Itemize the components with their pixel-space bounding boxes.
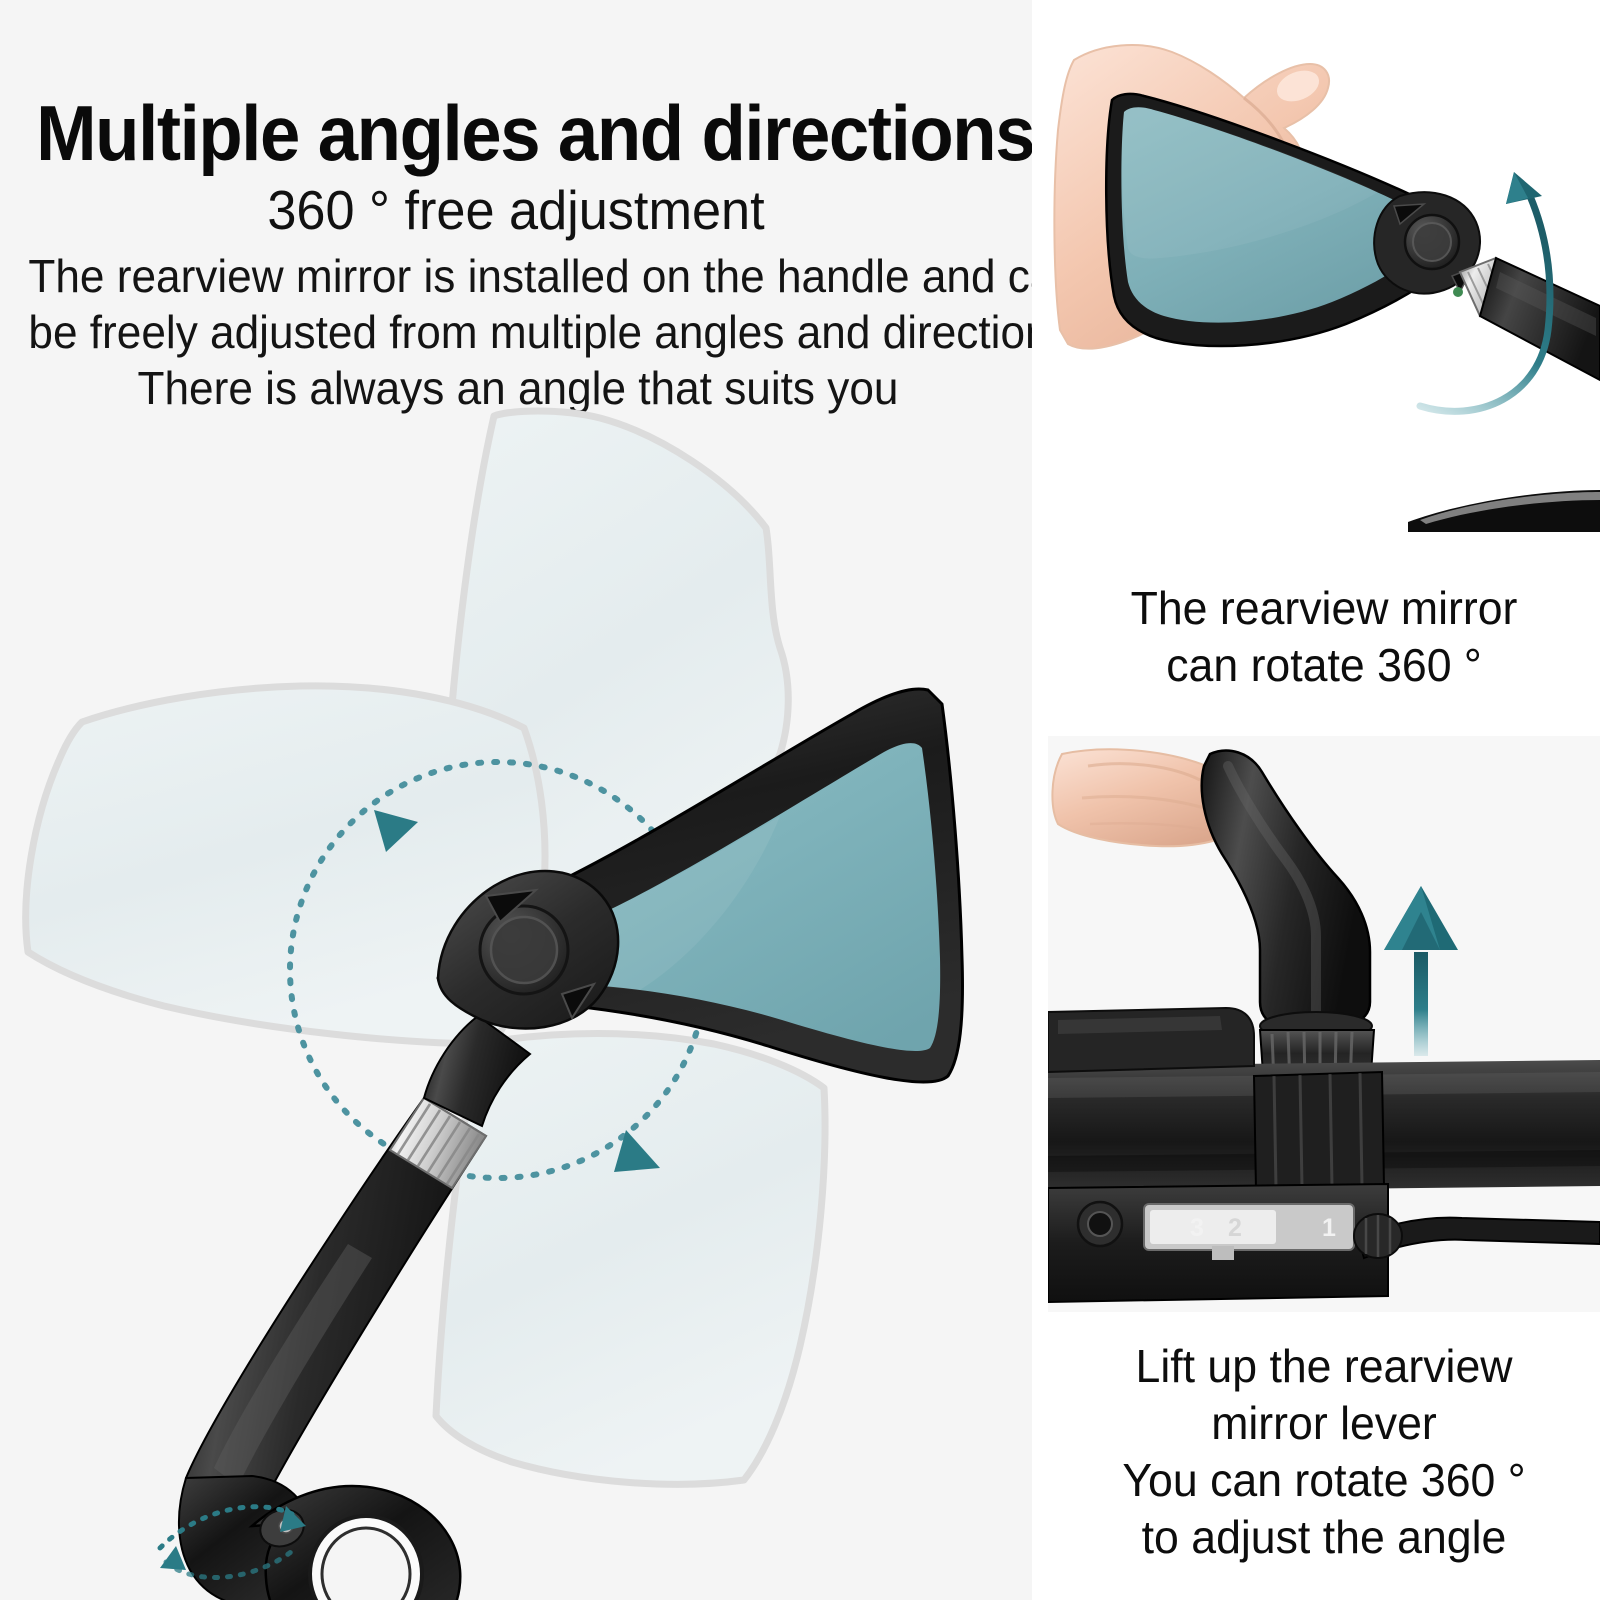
- rotating-mirror-diagram: [0, 330, 1032, 1600]
- caption-bottom-line-3: You can rotate 360 °: [1056, 1452, 1591, 1509]
- handlebar-clamp: [179, 1476, 460, 1600]
- page-subtitle: 360 ° free adjustment: [26, 178, 1006, 242]
- left-content-column: Multiple angles and directions 360 ° fre…: [0, 0, 1032, 1600]
- caption-top-line-2: can rotate 360 °: [1056, 637, 1591, 694]
- caption-top-line-1: The rearview mirror: [1056, 580, 1591, 637]
- handlebar-clamp-ring: [1254, 1072, 1384, 1190]
- brake-housing: [1048, 1008, 1254, 1072]
- gear-number-3: 3: [1190, 1214, 1204, 1242]
- photo-panel-rotate-mirror: [1048, 0, 1600, 532]
- description-line-1: The rearview mirror is installed on the …: [28, 248, 1007, 304]
- gear-number-2: 2: [1228, 1214, 1242, 1242]
- photo-panel-lift-lever: 3 2 1: [1048, 736, 1600, 1312]
- caption-rotate-mirror: The rearview mirror can rotate 360 °: [1056, 580, 1591, 694]
- infographic-page: Multiple angles and directions 360 ° fre…: [0, 0, 1600, 1600]
- gear-number-1: 1: [1322, 1214, 1336, 1242]
- gear-shifter: 3 2 1: [1048, 1184, 1388, 1302]
- ghost-mirror-lower-center: [436, 1034, 825, 1485]
- caption-bottom-line-4: to adjust the angle: [1056, 1509, 1591, 1566]
- page-title: Multiple angles and directions: [36, 92, 996, 174]
- caption-lift-lever: Lift up the rearview mirror lever You ca…: [1056, 1338, 1591, 1566]
- caption-bottom-line-2: mirror lever: [1056, 1395, 1591, 1452]
- right-photo-column: The rearview mirror can rotate 360 °: [1032, 0, 1600, 1600]
- caption-bottom-line-1: Lift up the rearview: [1056, 1338, 1591, 1395]
